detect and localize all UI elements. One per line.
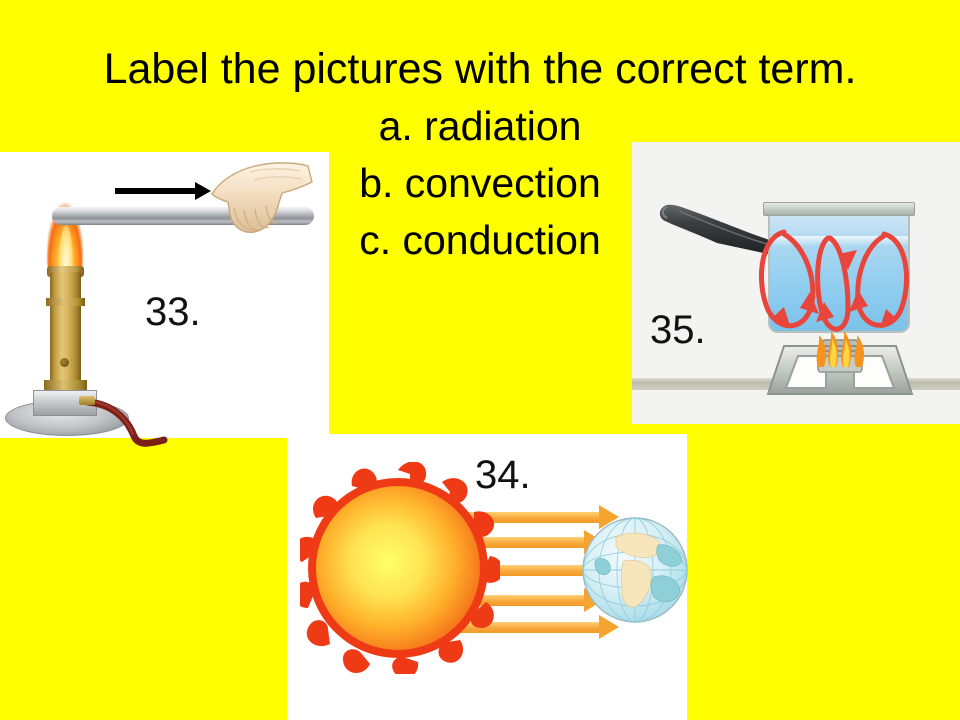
bunsen-gas-nozzle (79, 396, 95, 405)
gas-tube-icon (86, 398, 166, 442)
bunsen-air-hole-icon (60, 358, 69, 367)
bunsen-collar-lower (46, 298, 85, 306)
earth-globe-icon (580, 515, 690, 625)
hand-icon (208, 160, 314, 248)
heat-direction-arrow-icon (115, 188, 197, 194)
picture-number-35: 35. (650, 310, 706, 350)
page-title: Label the pictures with the correct term… (0, 40, 960, 98)
sun-icon (300, 462, 500, 674)
convection-current-arrows-icon (632, 142, 960, 424)
picture-number-34: 34. (475, 455, 531, 495)
picture-number-33: 33. (145, 292, 201, 332)
slide-canvas: 33. (0, 0, 960, 720)
bunsen-barrel (50, 272, 81, 385)
